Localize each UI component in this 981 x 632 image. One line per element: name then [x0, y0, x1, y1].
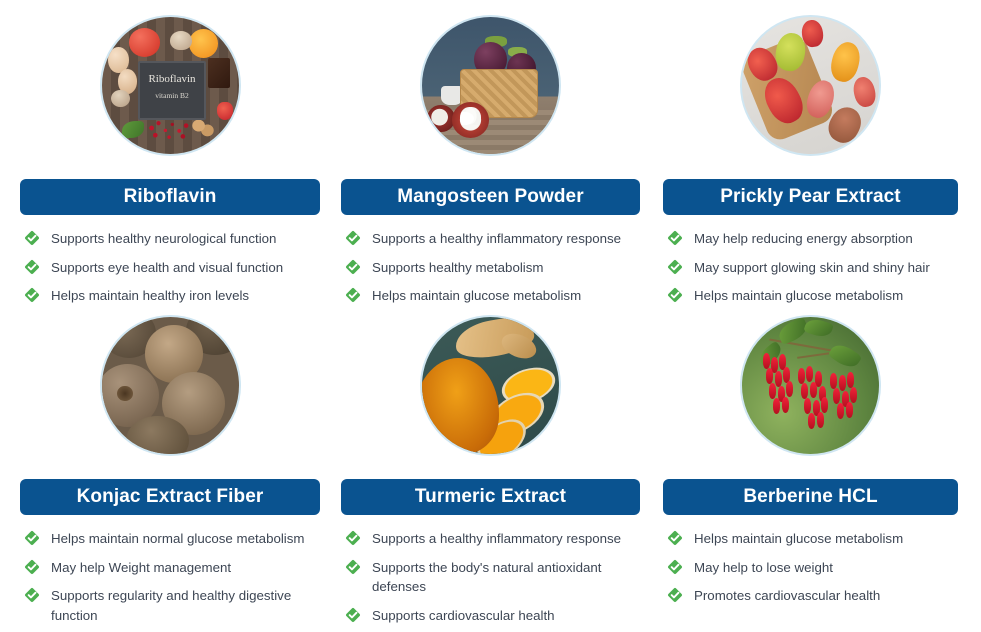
- benefit-text: Helps maintain normal glucose metabolism: [51, 529, 305, 549]
- benefit-text: May help reducing energy absorption: [694, 229, 913, 249]
- card-image-wrap: [663, 0, 958, 179]
- benefits-list: Supports a healthy inflammatory response…: [341, 515, 640, 626]
- ingredient-card-prickly-pear-extract[interactable]: Prickly Pear Extract May help reducing e…: [663, 0, 981, 300]
- benefit-text: Supports a healthy inflammatory response: [372, 529, 621, 549]
- benefit-item: May help reducing energy absorption: [667, 229, 958, 249]
- strawberry-shape: [217, 102, 233, 120]
- benefits-list: Helps maintain glucose metabolism May he…: [663, 515, 958, 606]
- check-diamond-icon: [667, 559, 683, 575]
- check-diamond-icon: [345, 230, 361, 246]
- ingredient-card-konjac-extract-fiber[interactable]: Konjac Extract Fiber Helps maintain norm…: [0, 300, 341, 632]
- card-image-wrap: [341, 0, 640, 179]
- prickly-pear-fruits-board-photo: [742, 17, 879, 154]
- benefit-item: Supports eye health and visual function: [24, 258, 320, 278]
- ingredient-card-turmeric-extract[interactable]: Turmeric Extract Supports a healthy infl…: [341, 300, 663, 632]
- mangosteen-fruit-basket-photo: [422, 17, 559, 154]
- benefits-list: Supports a healthy inflammatory response…: [341, 215, 640, 306]
- check-diamond-icon: [24, 587, 40, 603]
- card-title-turmeric-extract[interactable]: Turmeric Extract: [341, 479, 640, 515]
- check-diamond-icon: [667, 259, 683, 275]
- benefit-text: May help Weight management: [51, 558, 231, 578]
- benefits-list: May help reducing energy absorption May …: [663, 215, 958, 306]
- card-row-1: Riboflavin vitamin B2 Riboflavin Support…: [0, 0, 981, 300]
- card-title-mangosteen-powder[interactable]: Mangosteen Powder: [341, 179, 640, 215]
- check-diamond-icon: [667, 587, 683, 603]
- check-diamond-icon: [24, 259, 40, 275]
- benefit-item: Supports cardiovascular health: [345, 606, 640, 626]
- benefit-text: Supports the body's natural antioxidant …: [372, 558, 640, 597]
- card-image-wrap: [20, 300, 320, 479]
- card-title-konjac-extract-fiber[interactable]: Konjac Extract Fiber: [20, 479, 320, 515]
- mushroom-shape: [170, 31, 192, 50]
- check-diamond-icon: [345, 559, 361, 575]
- chocolate-shape: [208, 58, 230, 88]
- benefit-text: Supports eye health and visual function: [51, 258, 283, 278]
- spinach-leaf-shape: [122, 121, 144, 137]
- check-diamond-icon: [24, 530, 40, 546]
- benefit-item: Supports regularity and healthy digestiv…: [24, 586, 320, 625]
- benefit-item: Supports a healthy inflammatory response: [345, 229, 640, 249]
- benefit-item: Helps maintain glucose metabolism: [667, 529, 958, 549]
- benefit-text: Promotes cardiovascular health: [694, 586, 880, 606]
- card-image-wrap: [663, 300, 958, 479]
- benefits-list: Supports healthy neurological function S…: [20, 215, 320, 306]
- benefit-item: Helps maintain normal glucose metabolism: [24, 529, 320, 549]
- chalkboard-subtitle: vitamin B2: [140, 91, 203, 100]
- card-title-riboflavin[interactable]: Riboflavin: [20, 179, 320, 215]
- ingredient-card-mangosteen-powder[interactable]: Mangosteen Powder Supports a healthy inf…: [341, 0, 663, 300]
- check-diamond-icon: [667, 230, 683, 246]
- opened-mangosteen-shape: [427, 105, 454, 132]
- barberry-cluster-shape: [827, 372, 865, 432]
- check-diamond-icon: [667, 530, 683, 546]
- ingredient-card-berberine-hcl[interactable]: Berberine HCL Helps maintain glucose met…: [663, 300, 981, 632]
- benefit-text: May support glowing skin and shiny hair: [694, 258, 930, 278]
- benefit-item: Supports the body's natural antioxidant …: [345, 558, 640, 597]
- check-diamond-icon: [345, 607, 361, 623]
- card-title-berberine-hcl[interactable]: Berberine HCL: [663, 479, 958, 515]
- benefit-text: Helps maintain glucose metabolism: [694, 529, 903, 549]
- benefit-text: Supports a healthy inflammatory response: [372, 229, 621, 249]
- ingredient-card-riboflavin[interactable]: Riboflavin vitamin B2 Riboflavin Support…: [0, 0, 341, 300]
- chalkboard-title: Riboflavin: [140, 73, 203, 85]
- card-image-wrap: Riboflavin vitamin B2: [20, 0, 320, 179]
- barberry-berries-branch-photo: [742, 317, 879, 454]
- benefit-item: May support glowing skin and shiny hair: [667, 258, 958, 278]
- orange-slice-shape: [189, 29, 218, 58]
- benefit-item: Supports healthy neurological function: [24, 229, 320, 249]
- turmeric-powder-and-root-photo: [422, 317, 559, 454]
- card-title-prickly-pear-extract[interactable]: Prickly Pear Extract: [663, 179, 958, 215]
- benefit-item: May help to lose weight: [667, 558, 958, 578]
- card-row-2: Konjac Extract Fiber Helps maintain norm…: [0, 300, 981, 632]
- card-image-wrap: [341, 300, 640, 479]
- riboflavin-foods-chalkboard-photo: Riboflavin vitamin B2: [102, 17, 239, 154]
- check-diamond-icon: [24, 559, 40, 575]
- benefit-item: Supports healthy metabolism: [345, 258, 640, 278]
- benefit-text: Supports regularity and healthy digestiv…: [51, 586, 320, 625]
- konjac-root-tubers-photo: [102, 317, 239, 454]
- benefit-item: May help Weight management: [24, 558, 320, 578]
- benefit-item: Promotes cardiovascular health: [667, 586, 958, 606]
- benefit-text: Supports healthy neurological function: [51, 229, 276, 249]
- tomato-shape: [129, 28, 161, 57]
- turmeric-powder-shape: [422, 358, 499, 454]
- check-diamond-icon: [345, 259, 361, 275]
- benefit-text: May help to lose weight: [694, 558, 833, 578]
- benefit-text: Supports cardiovascular health: [372, 606, 555, 626]
- ingredient-cards-grid: Riboflavin vitamin B2 Riboflavin Support…: [0, 0, 981, 632]
- chalkboard-sign: Riboflavin vitamin B2: [138, 61, 205, 120]
- prickly-pear-shape: [851, 75, 877, 109]
- check-diamond-icon: [345, 530, 361, 546]
- benefit-item: Supports a healthy inflammatory response: [345, 529, 640, 549]
- check-diamond-icon: [24, 230, 40, 246]
- benefits-list: Helps maintain normal glucose metabolism…: [20, 515, 320, 626]
- opened-mangosteen-shape: [452, 102, 489, 138]
- benefit-text: Supports healthy metabolism: [372, 258, 543, 278]
- mushroom-shape: [111, 90, 130, 108]
- leaf-shape: [803, 317, 834, 340]
